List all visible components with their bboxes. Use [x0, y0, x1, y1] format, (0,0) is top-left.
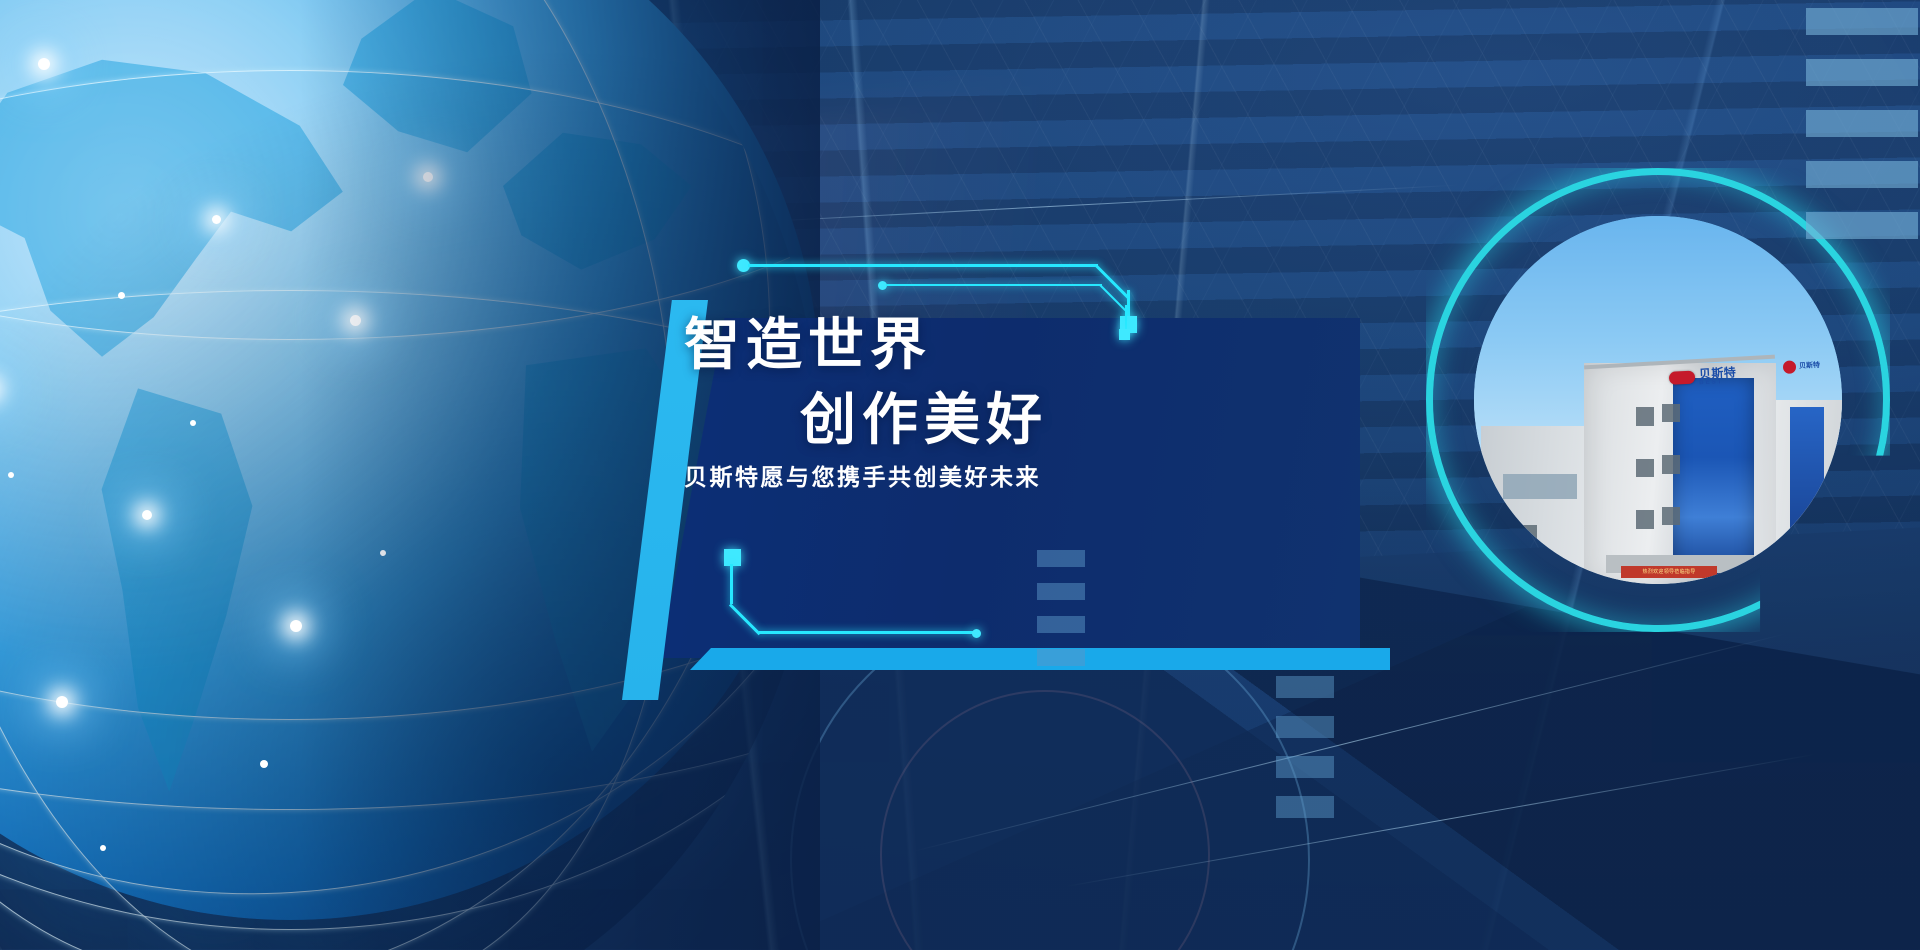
headline-line-1: 智造世界 — [684, 300, 932, 381]
network-node — [260, 760, 268, 768]
decor-bar — [1276, 676, 1334, 698]
decor-bars-lower — [1276, 676, 1334, 818]
building-sign-secondary: 贝斯特 — [1783, 359, 1821, 374]
circuit-node-dot — [972, 629, 981, 638]
circuit-line — [748, 264, 1098, 267]
circuit-line — [886, 284, 1102, 286]
circuit-node-square — [1119, 329, 1130, 340]
network-node — [8, 472, 14, 478]
photo-window — [1636, 407, 1654, 425]
circuit-line — [730, 564, 733, 604]
headline-line-2: 创作美好 — [800, 375, 1048, 456]
circuit-line — [759, 631, 975, 634]
photo-window — [1636, 510, 1654, 528]
photo-window — [1662, 455, 1680, 473]
decor-bar — [1037, 583, 1085, 600]
decor-bar — [1276, 796, 1334, 818]
decor-bar — [1037, 649, 1085, 666]
photo-window — [1662, 404, 1680, 422]
sign-secondary-text: 贝斯特 — [1799, 361, 1820, 370]
photo-window-strip — [1503, 474, 1577, 500]
decor-bar — [1276, 756, 1334, 778]
decor-bar — [1806, 8, 1918, 35]
network-node — [100, 845, 106, 851]
decor-bar — [1806, 212, 1918, 239]
network-node — [190, 420, 196, 426]
photo-window — [1636, 459, 1654, 477]
decor-bar — [1276, 716, 1334, 738]
decor-bars-middle — [1037, 550, 1085, 666]
circuit-line — [1127, 290, 1130, 318]
decor-bar — [1037, 616, 1085, 633]
decor-bar — [1806, 161, 1918, 188]
decor-bar — [1806, 59, 1918, 86]
decor-bars-right — [1806, 8, 1918, 239]
company-photo-medallion: 贝斯特 BEST 贝斯特 热烈欢迎领导莅临指导 — [1448, 190, 1868, 610]
photo-window — [1503, 525, 1536, 562]
photo-window — [1662, 507, 1680, 525]
network-node — [56, 696, 68, 708]
sign-secondary-badge — [1783, 360, 1797, 374]
network-node — [142, 510, 152, 520]
photo-entrance-banner: 热烈欢迎领导莅临指导 — [1621, 566, 1717, 579]
network-node — [212, 215, 221, 224]
circuit-line — [1125, 305, 1127, 331]
sign-logo-badge — [1669, 371, 1696, 385]
photo-glass-curtain-secondary — [1790, 407, 1823, 562]
hero-banner: 贝斯特 BEST 贝斯特 热烈欢迎领导莅临指导 智造世界 创作美好 贝 — [0, 0, 1920, 950]
building-photo: 贝斯特 BEST 贝斯特 热烈欢迎领导莅临指导 — [1474, 216, 1842, 584]
headline-subtitle: 贝斯特愿与您携手共创美好未来 — [684, 458, 1041, 492]
network-node — [38, 58, 50, 70]
sign-text-en: BEST — [1699, 378, 1737, 386]
network-node — [118, 292, 125, 299]
decor-bar — [1037, 550, 1085, 567]
photo-building-left — [1481, 426, 1591, 584]
decor-bar — [1806, 110, 1918, 137]
photo-glass-curtain — [1673, 378, 1754, 577]
